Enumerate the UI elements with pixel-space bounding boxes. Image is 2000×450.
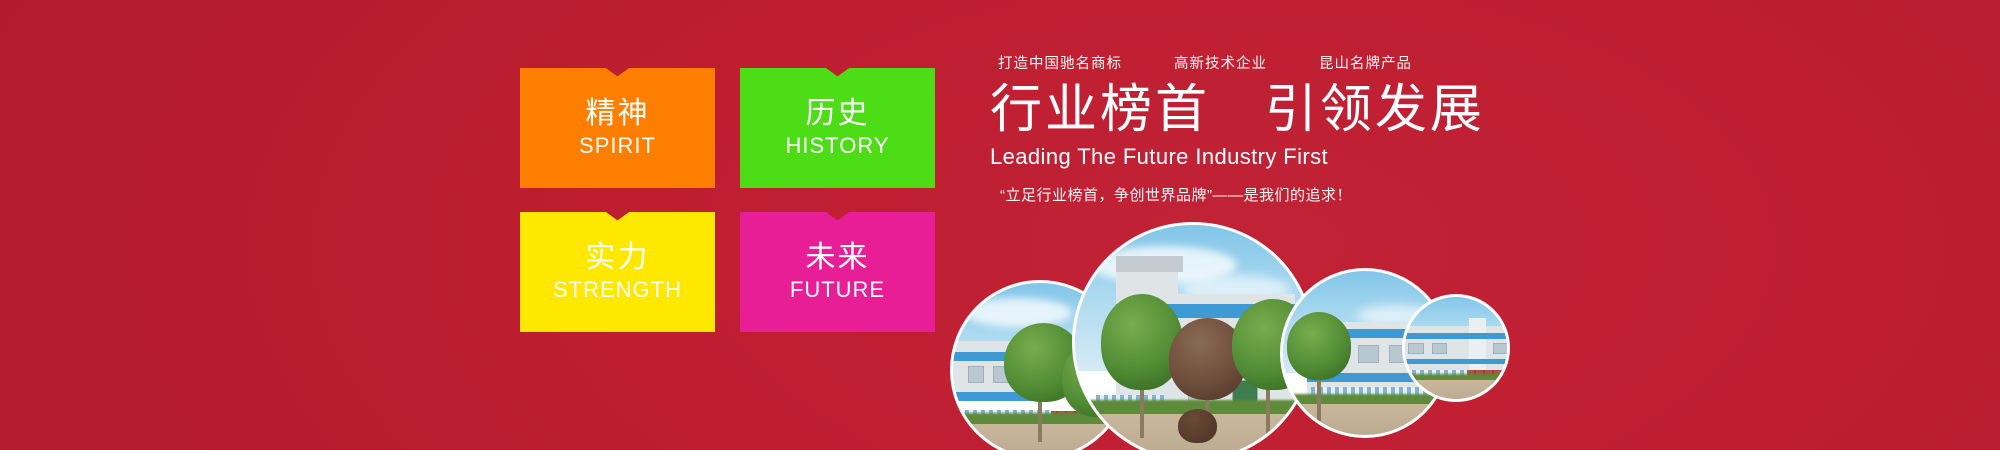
promo-banner: 精神 SPIRIT 历史 HISTORY 实力 STRENGTH 未来 FUTU…	[0, 0, 2000, 450]
value-tiles: 精神 SPIRIT 历史 HISTORY 实力 STRENGTH 未来 FUTU…	[520, 68, 920, 332]
photo-collage	[950, 222, 1510, 450]
headline-part-1: 行业榜首	[990, 81, 1210, 139]
headline-block: 打造中国驰名商标 高新技术企业 昆山名牌产品 行业榜首 引领发展 Leading…	[990, 52, 1510, 205]
photo-bubble-office-main	[1072, 222, 1314, 450]
tile-spirit-en: SPIRIT	[579, 135, 656, 157]
tile-spirit[interactable]: 精神 SPIRIT	[520, 68, 715, 188]
page-title: 行业榜首 引领发展	[990, 83, 1510, 138]
office-building-image	[1072, 222, 1314, 450]
tile-spirit-cn: 精神	[586, 99, 650, 129]
tile-strength[interactable]: 实力 STRENGTH	[520, 212, 715, 332]
tile-strength-en: STRENGTH	[553, 279, 682, 301]
badge-hightech: 高新技术企业	[1174, 52, 1267, 73]
tile-history-en: HISTORY	[786, 135, 890, 157]
gate-image	[1402, 294, 1510, 402]
tile-history-cn: 历史	[806, 99, 870, 129]
subtitle: Leading The Future Industry First	[990, 144, 1510, 170]
badge-trademark: 打造中国驰名商标	[998, 52, 1122, 73]
tile-strength-cn: 实力	[586, 243, 650, 273]
tile-future-cn: 未来	[806, 243, 870, 273]
tagline-quote: “立足行业榜首，争创世界品牌”——是我们的追求！	[1000, 184, 1510, 205]
tile-future[interactable]: 未来 FUTURE	[740, 212, 935, 332]
credential-badges: 打造中国驰名商标 高新技术企业 昆山名牌产品	[998, 52, 1510, 73]
tile-future-en: FUTURE	[790, 279, 885, 301]
photo-bubble-gate-right	[1402, 294, 1510, 402]
badge-brand: 昆山名牌产品	[1319, 52, 1412, 73]
tile-history[interactable]: 历史 HISTORY	[740, 68, 935, 188]
headline-part-2: 引领发展	[1265, 81, 1485, 139]
